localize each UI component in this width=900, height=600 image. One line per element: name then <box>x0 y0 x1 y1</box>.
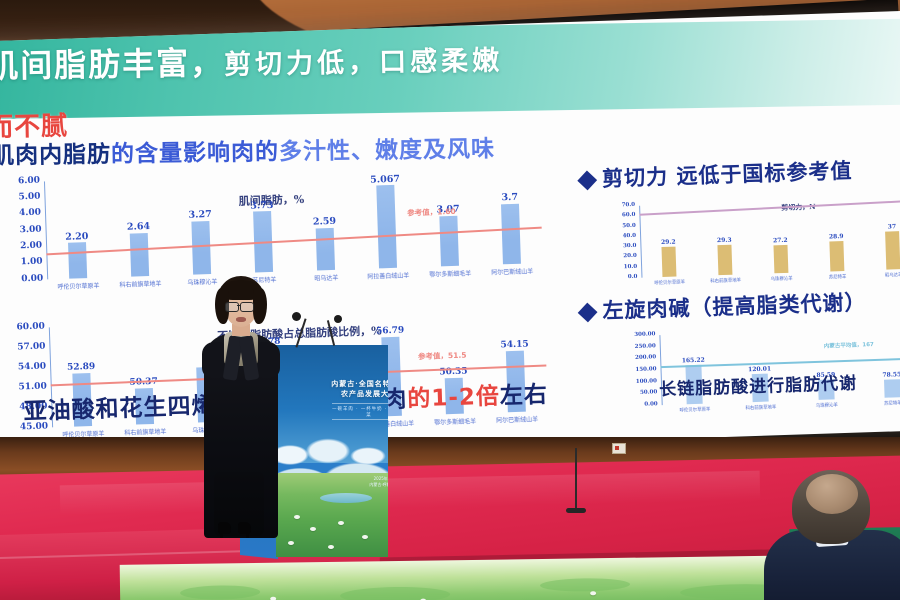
y-axis-tick-label: 2.00 <box>6 240 42 251</box>
floor-mic-stand <box>575 448 577 510</box>
y-axis-tick-label: 1.00 <box>6 257 42 268</box>
x-axis-category-label: 鄂尔多斯细毛羊 <box>421 416 489 427</box>
chart-bar <box>376 185 397 268</box>
footer-left-post: 左右 <box>499 382 548 410</box>
y-axis-tick-label: 4.00 <box>5 208 41 219</box>
speaker-heel-right <box>246 528 249 538</box>
y-axis-tick-label: 51.00 <box>11 381 47 392</box>
y-axis-tick-label: 0.00 <box>7 273 43 284</box>
chart-bar-value-label: 3.27 <box>176 209 224 222</box>
chart-bar-value-label: 78.55 <box>868 370 900 379</box>
floor-mic-stand-base <box>566 508 586 513</box>
y-axis-tick-label: 50.0 <box>610 222 636 229</box>
screenshot-root: 肌间脂肪丰富，剪切力低，口感柔嫩 肥而不腻 肌肉内脂肪的含量影响肉的多汁性、嫩度… <box>0 0 900 600</box>
y-axis-tick-label: 30.0 <box>610 243 636 250</box>
y-axis-tick-label: 40.0 <box>610 233 636 240</box>
podium-front-panel: 内蒙古·全国名特优新 农产品发展大会 一碗羊肉 · 一杯牛奶 · 一盘蔬菜 20… <box>276 345 388 557</box>
chart-bar-value-label: 5.067 <box>361 173 409 186</box>
y-axis-tick-label: 200.00 <box>616 355 656 362</box>
speaker-eyeglass-right <box>240 302 254 312</box>
chart-bar-value-label: 29.3 <box>700 236 748 245</box>
y-axis-tick-label: 0.0 <box>611 274 637 281</box>
x-axis-category-label: 科右前旗草地羊 <box>727 404 795 412</box>
x-axis-category-label: 乌珠穆沁羊 <box>793 402 861 410</box>
audience-member <box>770 470 900 600</box>
speaker-mouth <box>236 317 246 322</box>
y-axis-tick-label: 0.00 <box>618 401 658 408</box>
chart-bar-value-label: 3.7 <box>486 191 534 204</box>
chart-bar-value-label: 3.73 <box>238 199 286 212</box>
chart-bar-value-label: 28.9 <box>812 233 860 242</box>
podium-title: 内蒙古·全国名特优新 农产品发展大会 <box>326 379 388 399</box>
y-axis-tick-label: 50.00 <box>617 390 657 397</box>
chart-bar <box>439 216 459 267</box>
podium-date-line2: 内蒙古·呼和浩特 <box>369 482 388 487</box>
y-axis-tick-label: 6.00 <box>4 175 40 186</box>
speaker-eyeglass-left <box>225 302 239 312</box>
chart-bar-value-label: 56.79 <box>366 326 414 338</box>
x-axis-category-label: 呼伦贝尔草原羊 <box>44 280 112 291</box>
chart-bar-value-label: 52.89 <box>57 362 105 374</box>
chart-bar <box>501 203 522 264</box>
chart-bar <box>129 233 149 277</box>
footer-left-highlight: 的1-2倍 <box>407 383 500 412</box>
chart-bar-value-label: 29.2 <box>644 238 692 247</box>
chart-bar <box>885 231 900 270</box>
podium-microphone-head-icon-2 <box>334 315 342 323</box>
speaker-hair-side-right <box>253 288 267 324</box>
podium-title-line2: 农产品发展大会 <box>341 389 388 398</box>
y-axis-tick-label: 60.0 <box>609 212 635 219</box>
chart-bar-value-label: 54.15 <box>490 339 538 351</box>
diamond-bullet-icon <box>578 303 598 323</box>
speaker-heel-left <box>220 528 223 538</box>
chart-bar <box>315 228 335 271</box>
chart-bar <box>717 245 733 276</box>
speaker-shoe-right <box>238 522 251 534</box>
y-axis-tick-label: 100.00 <box>617 378 657 385</box>
speaker-shoulder-left <box>202 342 224 378</box>
chart-bar-value-label: 2.64 <box>114 221 162 234</box>
chart-bar-value-label: 27.2 <box>756 236 804 245</box>
y-axis-tick-label: 60.00 <box>9 321 45 332</box>
speaker-shoulder-right <box>258 342 280 378</box>
podium-microphone-head-icon <box>292 312 301 321</box>
chart-bar <box>68 242 88 279</box>
reference-value-label: 参考值，1.60 <box>407 206 456 219</box>
reference-value-label: 参考值，51.5 <box>418 350 467 363</box>
y-axis-tick-label: 57.00 <box>9 341 45 352</box>
audience-scalp <box>806 474 858 514</box>
y-axis-line <box>44 181 49 279</box>
chart-bar <box>829 241 845 271</box>
projection-screen: 肌间脂肪丰富，剪切力低，口感柔嫩 肥而不腻 肌肉内脂肪的含量影响肉的多汁性、嫩度… <box>0 10 900 461</box>
x-axis-category-label: 科右前旗草地羊 <box>106 278 174 289</box>
podium-subtitle: 一碗羊肉 · 一杯牛奶 · 一盘蔬菜 <box>332 403 388 420</box>
x-axis-category-label: 苏尼特羊 <box>859 399 900 407</box>
x-axis-category-label: 昭乌达羊 <box>859 271 900 279</box>
reference-line <box>639 200 900 216</box>
headline-main: 肌间脂肪丰富， <box>0 44 224 86</box>
diamond-bullet-icon <box>577 171 597 191</box>
chart-bar <box>884 379 900 398</box>
x-axis-category-label: 阿尔巴斯绒山羊 <box>478 266 546 277</box>
headline-sub: 剪切力低，口感柔嫩 <box>224 45 503 80</box>
x-axis-category-label: 阿尔巴斯绒山羊 <box>483 414 551 425</box>
chart-bar-value-label: 2.20 <box>53 230 101 243</box>
chart-bar-value-label: 2.59 <box>300 216 348 229</box>
y-axis-tick-label: 300.00 <box>615 331 655 338</box>
x-axis-category-label: 科右前旗草地羊 <box>111 426 179 437</box>
slide-content: 肌间脂肪丰富，剪切力低，口感柔嫩 肥而不腻 肌肉内脂肪的含量影响肉的多汁性、嫩度… <box>0 10 900 461</box>
reference-value-label: 内蒙古平均值，167 <box>824 340 874 350</box>
x-axis-category-label: 呼伦贝尔草原羊 <box>661 406 729 414</box>
y-axis-tick-label: 54.00 <box>10 361 46 372</box>
chart-shear-force: 0.010.020.030.040.050.060.070.0剪切力，N29.2… <box>605 180 900 298</box>
speaker-eyeglass-bridge <box>237 305 241 306</box>
chart-bar-value-label: 37 <box>868 223 900 232</box>
y-axis-tick-label: 20.0 <box>611 253 637 260</box>
y-axis-tick-label: 10.0 <box>611 264 637 271</box>
x-axis-category-label: 鄂尔多斯细毛羊 <box>416 268 484 279</box>
y-axis-tick-label: 150.00 <box>616 366 656 373</box>
x-axis-category-label: 阿拉善白绒山羊 <box>354 270 422 281</box>
footer-left-pre: 亚油酸和花生 <box>23 394 168 425</box>
chart-bar <box>191 221 211 275</box>
x-axis-category-label: 昭乌达羊 <box>292 272 360 283</box>
y-axis-tick-label: 70.0 <box>609 202 635 209</box>
wall-sign-dot-icon <box>615 446 619 450</box>
chart-bar <box>773 245 788 273</box>
speaker-person <box>196 276 286 538</box>
podium-river-art <box>320 493 372 503</box>
y-axis-tick-label: 250.00 <box>616 343 656 350</box>
podium-title-line1: 内蒙古·全国名特优新 <box>331 379 388 388</box>
podium-date-line1: 2025年7月 <box>374 476 388 481</box>
y-axis-line <box>639 206 643 278</box>
podium-date: 2025年7月 内蒙古·呼和浩特 <box>362 476 388 488</box>
chart-bar <box>661 247 677 277</box>
y-axis-tick-label: 3.00 <box>5 224 41 235</box>
y-axis-tick-label: 5.00 <box>4 191 40 202</box>
